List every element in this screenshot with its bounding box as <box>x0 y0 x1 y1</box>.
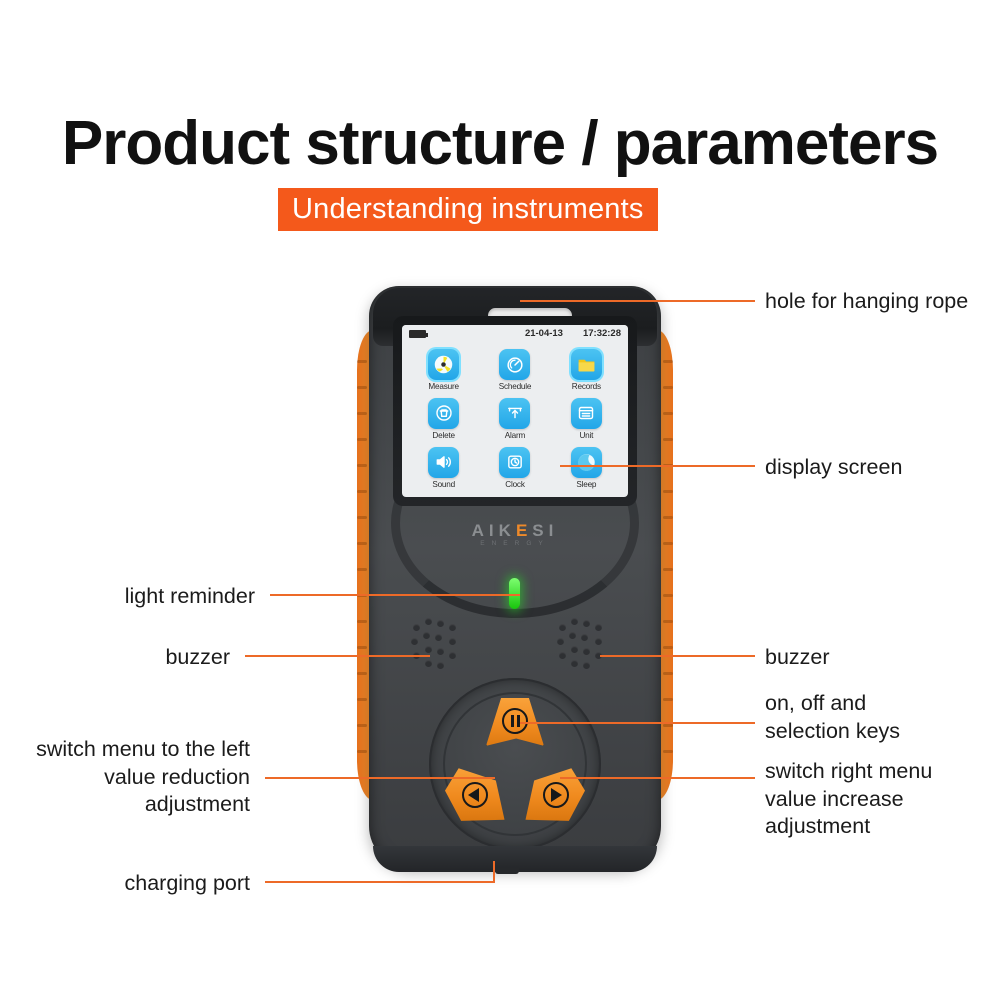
leader-power-keys <box>520 722 755 724</box>
menu-label: Sound <box>432 480 455 489</box>
callout-buzzer-right: buzzer <box>765 644 830 672</box>
leader-charging-port-h <box>265 881 495 883</box>
menu-item-clock[interactable]: Clock <box>479 443 550 492</box>
leader-left-key <box>265 777 495 779</box>
gauge-icon <box>499 349 530 380</box>
moon-icon <box>571 447 602 478</box>
leader-buzzer-left <box>245 655 430 657</box>
menu-item-delete[interactable]: Delete <box>408 395 479 444</box>
menu-label: Records <box>572 382 601 391</box>
display-screen[interactable]: 21-04-13 17:32:28 <box>402 325 628 497</box>
charging-port <box>495 867 519 874</box>
leader-charging-port-v <box>493 861 495 883</box>
brand-subtext: ENERGY <box>355 540 675 547</box>
leader-light-reminder <box>270 594 520 596</box>
menu-item-alarm[interactable]: Alarm <box>479 395 550 444</box>
button-cluster <box>429 678 601 850</box>
page-title: Product structure / parameters <box>0 108 1000 179</box>
menu-label: Unit <box>579 431 593 440</box>
leader-right-key <box>560 777 755 779</box>
menu-label: Schedule <box>499 382 532 391</box>
callout-buzzer-left: buzzer <box>0 644 230 672</box>
right-arrow-button[interactable] <box>523 766 585 822</box>
arrow-left-icon <box>462 782 488 808</box>
callout-left-key: switch menu to the left value reduction … <box>0 736 250 819</box>
menu-item-measure[interactable]: Measure <box>408 346 479 395</box>
callout-light-reminder: light reminder <box>0 583 255 611</box>
alarm-arrow-icon <box>499 398 530 429</box>
buzzer-grille-right <box>557 616 619 674</box>
arrow-right-icon <box>543 782 569 808</box>
menu-item-schedule[interactable]: Schedule <box>479 346 550 395</box>
subtitle-text: Understanding instruments <box>292 193 644 226</box>
menu-grid: Measure Schedule <box>402 342 628 497</box>
menu-label: Clock <box>505 480 524 489</box>
callout-charging-port: charging port <box>0 870 250 898</box>
callout-right-key: switch right menu value increase adjustm… <box>765 758 932 841</box>
product-structure-diagram: Product structure / parameters Understan… <box>0 0 1000 1000</box>
menu-item-sleep[interactable]: Sleep <box>551 443 622 492</box>
brand-accent-letter: E <box>516 521 532 540</box>
menu-item-unit[interactable]: Unit <box>551 395 622 444</box>
radiation-icon <box>428 349 459 380</box>
menu-label: Delete <box>432 431 454 440</box>
screen-bezel: 21-04-13 17:32:28 <box>393 316 637 506</box>
brand-text-end: SI <box>532 521 558 540</box>
status-time: 17:32:28 <box>583 328 621 339</box>
brand-logo: AIKESI <box>355 521 675 541</box>
menu-item-records[interactable]: Records <box>551 346 622 395</box>
folder-icon <box>571 349 602 380</box>
trash-icon <box>428 398 459 429</box>
list-icon <box>571 398 602 429</box>
battery-icon <box>409 330 426 338</box>
leader-hanging-rope <box>520 300 755 302</box>
subtitle-banner: Understanding instruments <box>278 188 658 231</box>
power-select-button[interactable] <box>486 698 544 750</box>
callout-display-screen: display screen <box>765 454 902 482</box>
speaker-icon <box>428 447 459 478</box>
status-date: 21-04-13 <box>525 328 563 339</box>
buzzer-grille-left <box>411 616 473 674</box>
leader-buzzer-right <box>600 655 755 657</box>
status-bar: 21-04-13 17:32:28 <box>402 325 628 342</box>
menu-label: Sleep <box>576 480 596 489</box>
callout-hanging-rope: hole for hanging rope <box>765 288 968 316</box>
menu-item-sound[interactable]: Sound <box>408 443 479 492</box>
pause-icon <box>502 708 528 734</box>
clock-icon <box>499 447 530 478</box>
device-illustration: 21-04-13 17:32:28 <box>355 278 675 876</box>
brand-text-start: AIK <box>472 521 516 540</box>
callout-power-keys: on, off and selection keys <box>765 690 900 745</box>
menu-label: Measure <box>428 382 458 391</box>
menu-label: Alarm <box>505 431 525 440</box>
leader-display-screen <box>560 465 755 467</box>
left-arrow-button[interactable] <box>445 766 507 822</box>
